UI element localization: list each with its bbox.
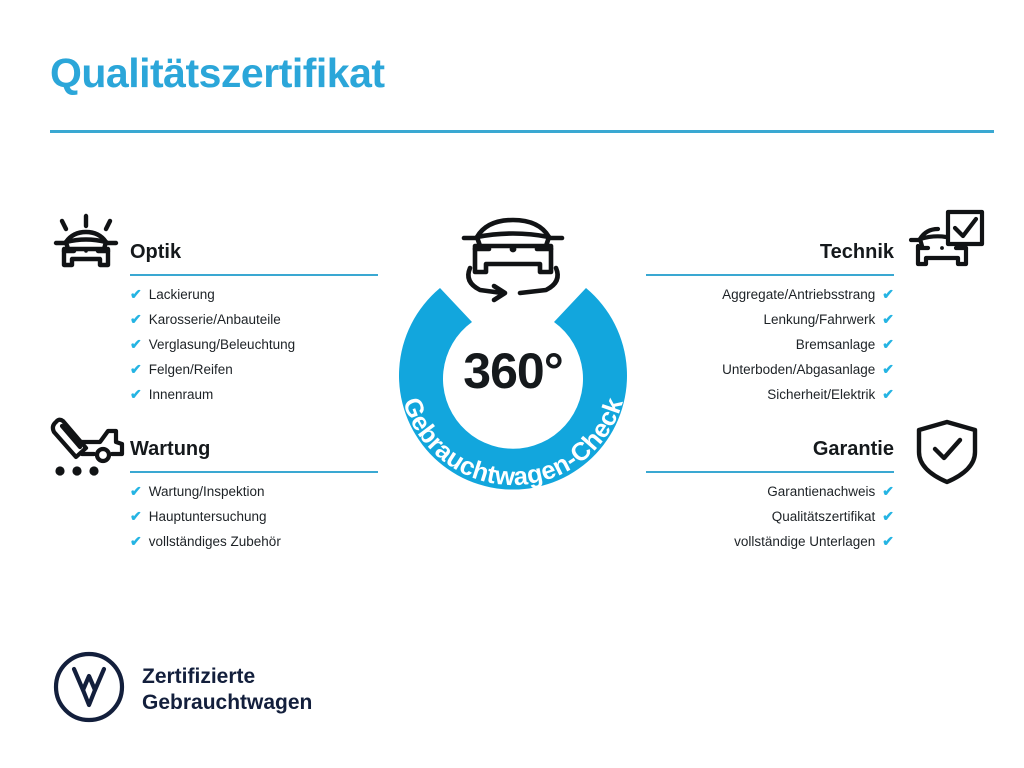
section-wartung: Wartung ✔Wartung/Inspektion ✔Hauptunters… (130, 435, 378, 554)
section-header: Technik (646, 238, 894, 282)
section-title: Wartung (130, 435, 378, 463)
check-icon: ✔ (882, 282, 894, 306)
car-service-icon (46, 412, 128, 482)
section-header: Optik (130, 238, 378, 282)
list-item-label: Lackierung (149, 283, 215, 307)
list-item-label: Hauptuntersuchung (149, 505, 267, 529)
page-title: Qualitätszertifikat (50, 50, 385, 97)
list-item: ✔Karosserie/Anbauteile (130, 307, 378, 332)
section-technik: Technik Aggregate/Antriebsstrang✔ Lenkun… (646, 238, 894, 407)
gebrauchtwagen-check-badge: Gebrauchtwagen-Check 360° (372, 196, 654, 492)
list-item-label: vollständiges Zubehör (149, 530, 281, 554)
car-rotate-icon (464, 220, 562, 300)
section-underline (646, 274, 894, 276)
list-item: ✔Hauptuntersuchung (130, 504, 378, 529)
section-underline (130, 471, 378, 473)
list-item-label: Wartung/Inspektion (149, 480, 265, 504)
check-icon: ✔ (882, 307, 894, 331)
badge-center-value: 360° (372, 342, 654, 400)
checklist-technik: Aggregate/Antriebsstrang✔ Lenkung/Fahrwe… (646, 282, 894, 407)
footer-line-2: Gebrauchtwagen (142, 690, 312, 716)
checklist-optik: ✔Lackierung ✔Karosserie/Anbauteile ✔Verg… (130, 282, 378, 407)
check-icon: ✔ (130, 282, 142, 306)
section-underline (646, 471, 894, 473)
check-icon: ✔ (882, 479, 894, 503)
title-divider (50, 130, 994, 133)
list-item: ✔Lackierung (130, 282, 378, 307)
checklist-garantie: Garantienachweis✔ Qualitätszertifikat✔ v… (646, 479, 894, 554)
check-icon: ✔ (882, 504, 894, 528)
check-icon: ✔ (882, 529, 894, 553)
check-icon: ✔ (130, 504, 142, 528)
list-item: ✔Innenraum (130, 382, 378, 407)
check-icon: ✔ (130, 479, 142, 503)
list-item-label: Aggregate/Antriebsstrang (722, 283, 875, 307)
list-item: Garantienachweis✔ (646, 479, 894, 504)
section-underline (130, 274, 378, 276)
list-item: Bremsanlage✔ (646, 332, 894, 357)
list-item: ✔Wartung/Inspektion (130, 479, 378, 504)
section-optik: Optik ✔Lackierung ✔Karosserie/Anbauteile… (130, 238, 378, 407)
list-item-label: Karosserie/Anbauteile (149, 308, 281, 332)
section-header: Wartung (130, 435, 378, 479)
check-icon: ✔ (882, 357, 894, 381)
section-title: Optik (130, 238, 378, 266)
list-item: Aggregate/Antriebsstrang✔ (646, 282, 894, 307)
section-garantie: Garantie Garantienachweis✔ Qualitätszert… (646, 435, 894, 554)
list-item-label: Sicherheit/Elektrik (767, 383, 875, 407)
footer-text: Zertifizierte Gebrauchtwagen (142, 664, 312, 716)
footer-line-1: Zertifizierte (142, 664, 312, 690)
check-icon: ✔ (130, 382, 142, 406)
check-icon: ✔ (130, 529, 142, 553)
list-item-label: Lenkung/Fahrwerk (763, 308, 875, 332)
list-item-label: vollständige Unterlagen (734, 530, 875, 554)
shield-check-icon (913, 416, 981, 488)
list-item-label: Innenraum (149, 383, 214, 407)
car-checkbox-icon (906, 208, 986, 280)
list-item: ✔Verglasung/Beleuchtung (130, 332, 378, 357)
check-icon: ✔ (130, 307, 142, 331)
list-item-label: Verglasung/Beleuchtung (149, 333, 295, 357)
list-item-label: Garantienachweis (767, 480, 875, 504)
section-header: Garantie (646, 435, 894, 479)
section-title: Garantie (646, 435, 894, 463)
section-title: Technik (646, 238, 894, 266)
check-icon: ✔ (882, 382, 894, 406)
footer-brand: Zertifizierte Gebrauchtwagen (52, 650, 312, 729)
list-item-label: Felgen/Reifen (149, 358, 233, 382)
list-item-label: Qualitätszertifikat (772, 505, 876, 529)
vw-logo (52, 650, 126, 729)
list-item: Lenkung/Fahrwerk✔ (646, 307, 894, 332)
list-item-label: Bremsanlage (796, 333, 876, 357)
list-item: Sicherheit/Elektrik✔ (646, 382, 894, 407)
list-item: vollständige Unterlagen✔ (646, 529, 894, 554)
list-item: ✔vollständiges Zubehör (130, 529, 378, 554)
check-icon: ✔ (130, 357, 142, 381)
car-shine-icon (48, 203, 124, 279)
check-icon: ✔ (130, 332, 142, 356)
checklist-wartung: ✔Wartung/Inspektion ✔Hauptuntersuchung ✔… (130, 479, 378, 554)
list-item: ✔Felgen/Reifen (130, 357, 378, 382)
list-item: Qualitätszertifikat✔ (646, 504, 894, 529)
list-item: Unterboden/Abgasanlage✔ (646, 357, 894, 382)
list-item-label: Unterboden/Abgasanlage (722, 358, 875, 382)
certificate-page: Qualitätszertifikat Optik ✔Lackierung ✔K… (0, 0, 1024, 768)
check-icon: ✔ (882, 332, 894, 356)
